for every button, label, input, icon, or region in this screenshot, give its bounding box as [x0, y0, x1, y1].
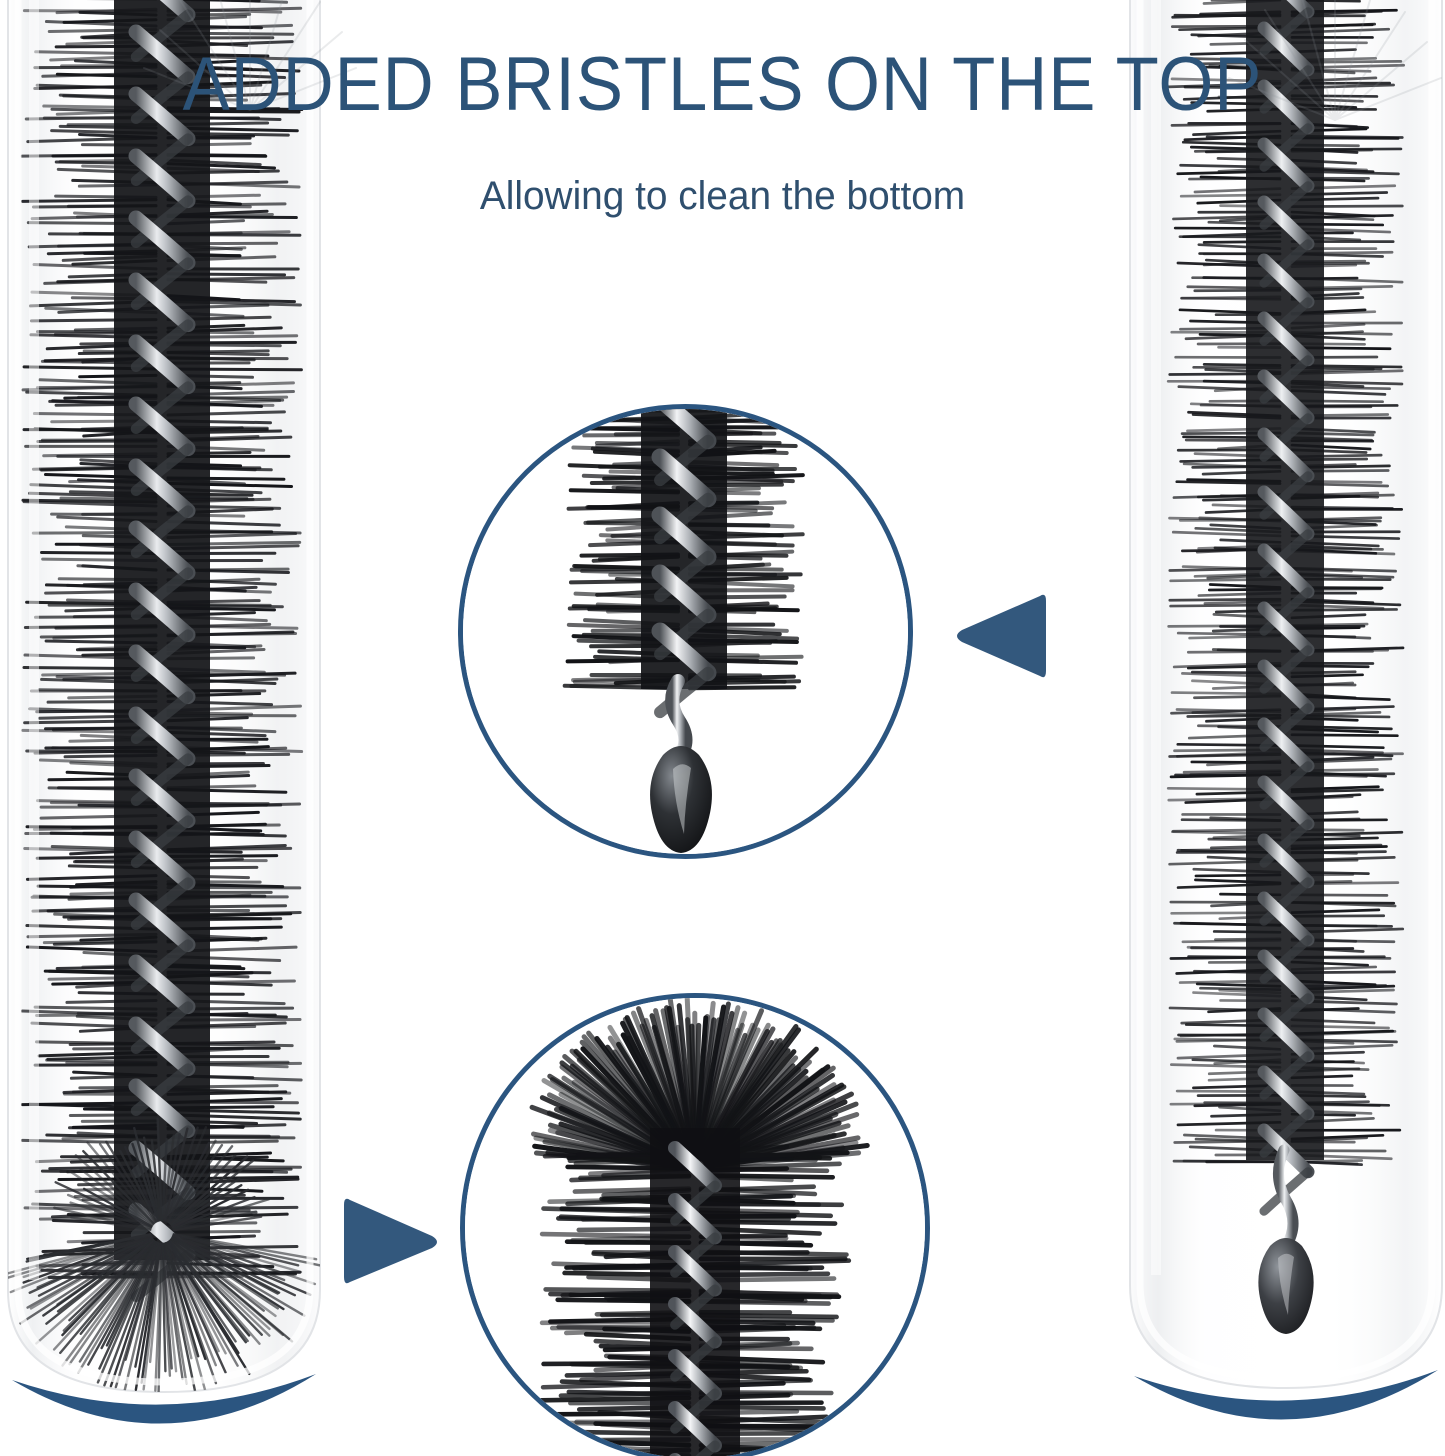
- inset-bristle-tip: [460, 993, 930, 1456]
- bristle-tip-detail-illustration: [465, 998, 925, 1456]
- pointer-to-right-bottle: [950, 586, 1046, 691]
- page-subtitle: Allowing to clean the bottom: [22, 172, 1424, 220]
- inset-plain-tip: [458, 404, 913, 859]
- page-title: ADDED BRISTLES ON THE TOP: [51, 44, 1395, 126]
- triangle-right-icon: [342, 1190, 442, 1294]
- pointer-to-bottom-inset: [342, 1190, 442, 1299]
- plain-tip-detail-illustration: [463, 409, 908, 854]
- triangle-left-icon: [950, 586, 1046, 686]
- infographic-canvas: ADDED BRISTLES ON THE TOP Allowing to cl…: [0, 0, 1445, 1456]
